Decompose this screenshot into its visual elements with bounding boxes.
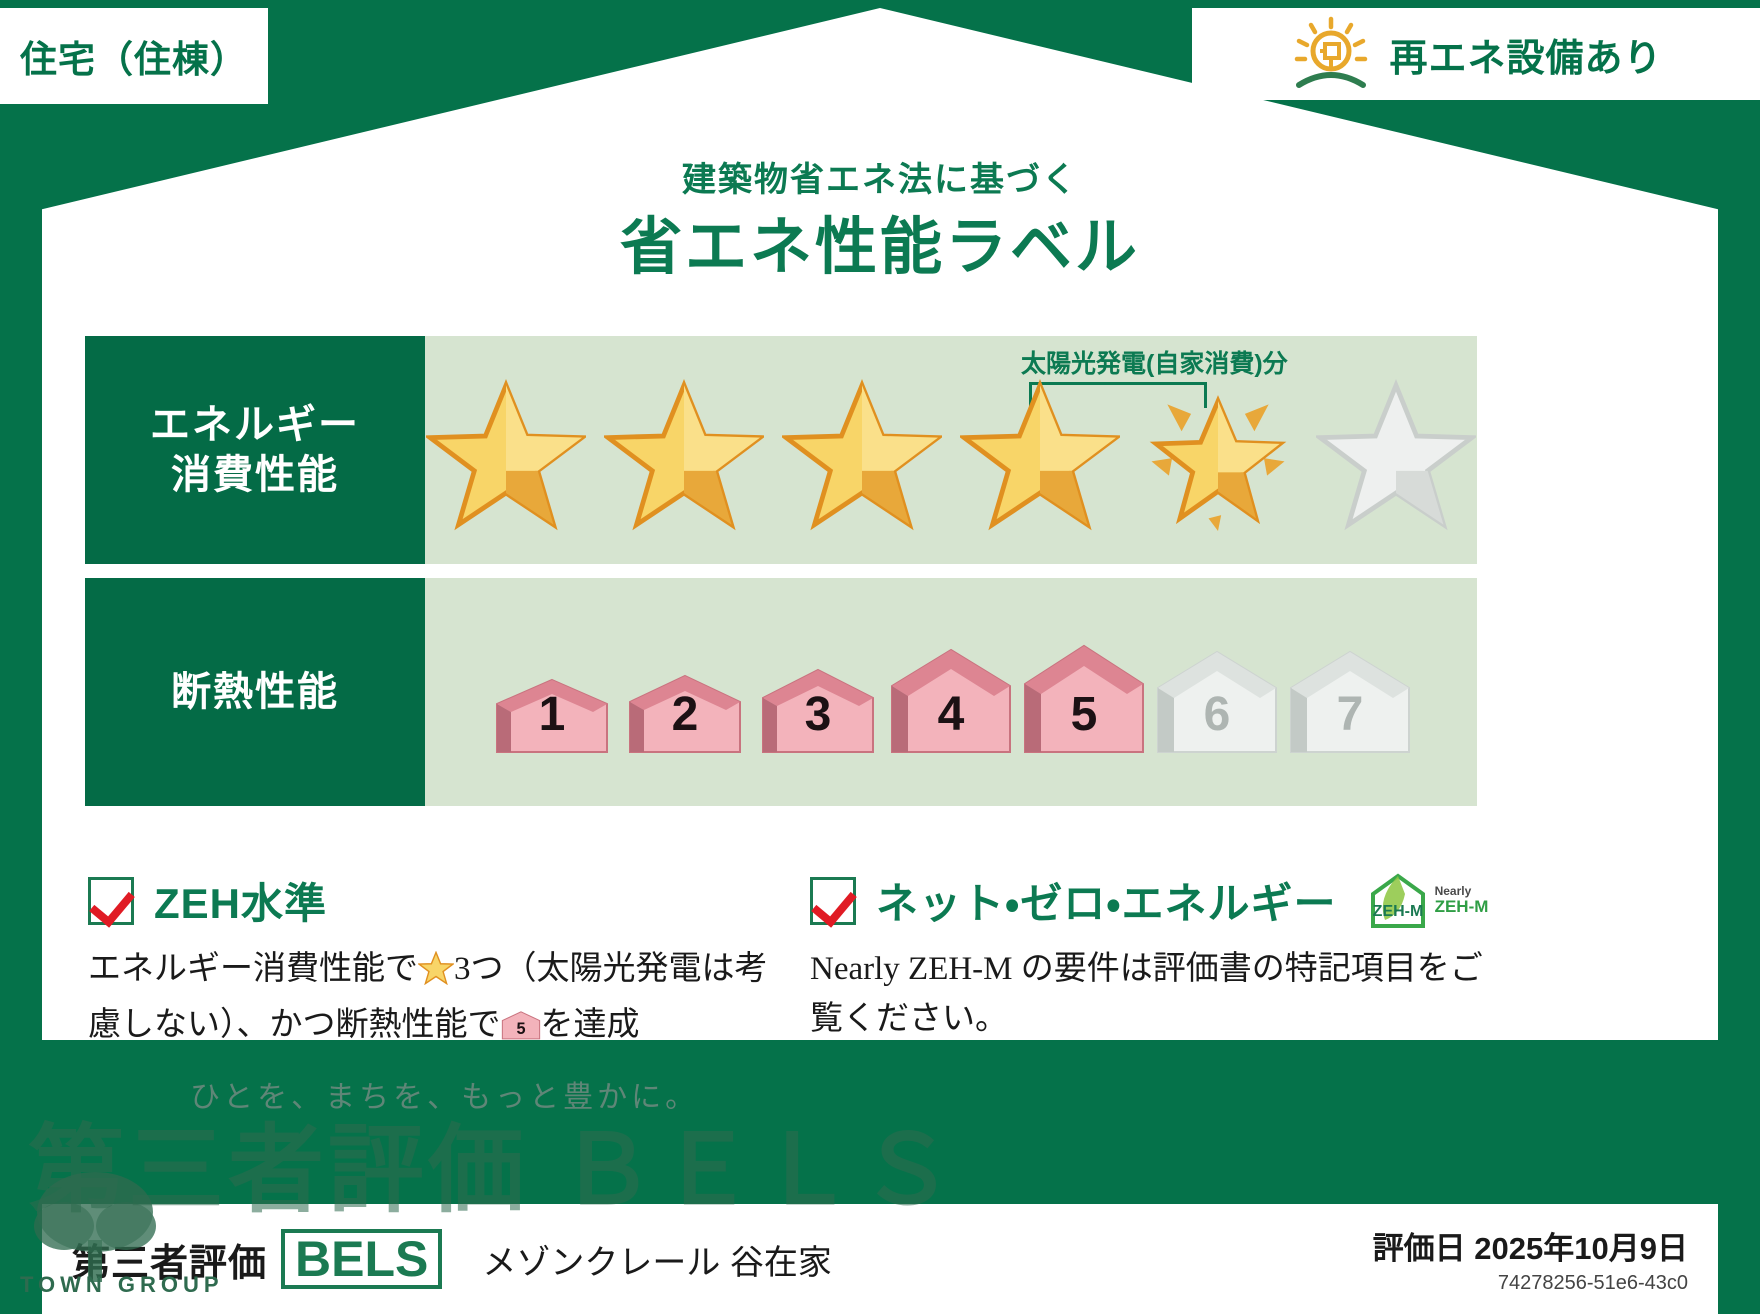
row-energy-label: エネルギー 消費性能 (85, 336, 425, 564)
footer-edge-right (1718, 1204, 1760, 1314)
star-icon-2 (604, 379, 764, 531)
insulation-step-number: 3 (759, 687, 877, 742)
footer-edge-left (0, 1204, 42, 1314)
insulation-step-3: 3 (755, 668, 882, 754)
watermark-tagline: ひとを、まちを、もっと豊かに。 (190, 1072, 699, 1116)
solar-annotation: 太陽光発電(自家消費)分 (1021, 344, 1288, 380)
row-insulation-steps: 1 2 (425, 578, 1477, 806)
label-subtitle: 建築物省エネ法に基づく (0, 152, 1760, 201)
solar-plug-icon (1289, 15, 1373, 94)
zeh-m-logo-text: Nearly ZEH-M (1435, 885, 1489, 917)
zeh-standard-title: ZEH水準 (154, 870, 327, 931)
svg-text:ZEH-M: ZEH-M (1372, 903, 1423, 920)
star-icon-3 (782, 379, 942, 531)
checkbox-checked-icon (88, 877, 134, 925)
inline-house-badge-icon: 5 (501, 1007, 541, 1059)
insulation-step-1: 1 (489, 678, 616, 754)
net-zero-energy-block: ネット・ゼロ・エネルギー ZEH-M Nearly ZEH-M Nearly Z… (810, 870, 1510, 1044)
badge-renewable-label: 再エネ設備あり (1389, 27, 1662, 82)
evaluation-date: 評価日 2025年10月9日 (1373, 1223, 1688, 1268)
insulation-step-4: 4 (888, 648, 1015, 754)
star-icon-4 (960, 379, 1120, 531)
footer-eval-info: 評価日 2025年10月9日 74278256-51e6-43c0 (1373, 1223, 1688, 1295)
zeh-m-logo: ZEH-M Nearly ZEH-M (1367, 872, 1489, 930)
third-party-eval-label: 第三者評価 (72, 1232, 267, 1287)
energy-performance-label: 住宅（住棟） 再エネ設備あり (0, 0, 1760, 1314)
svg-text:5: 5 (516, 1020, 525, 1038)
star-rating (426, 379, 1476, 531)
zeh-m-house-icon: ZEH-M (1367, 872, 1429, 930)
bels-logo: 第三者評価 BELS (72, 1229, 442, 1290)
insulation-step-7: 7 (1287, 650, 1414, 754)
insulation-step-list: 1 2 (489, 644, 1414, 754)
insulation-step-5: 5 (1021, 644, 1148, 754)
row-insulation-label: 断熱性能 (85, 578, 425, 806)
row-insulation-performance: 断熱性能 1 (85, 578, 1477, 806)
insulation-step-6: 6 (1154, 650, 1281, 754)
badge-renewable-equipment: 再エネ設備あり (1192, 8, 1760, 100)
bels-mark: BELS (281, 1229, 442, 1290)
insulation-step-2: 2 (622, 674, 749, 754)
insulation-step-number: 5 (1021, 687, 1147, 742)
evaluation-id: 74278256-51e6-43c0 (1373, 1272, 1688, 1295)
star-icon-5-solar (1138, 379, 1298, 531)
badge-house-type-label: 住宅（住棟） (20, 29, 248, 83)
net-zero-energy-description: Nearly ZEH-M の要件は評価書の特記項目をご覧ください。 (810, 945, 1510, 1044)
star-icon-1 (426, 379, 586, 531)
zeh-standard-description: エネルギー消費性能で3つ（太陽光発電は考慮しない）、かつ断熱性能で5を達成 (88, 945, 778, 1058)
property-name: メゾンクレール 谷在家 (482, 1235, 831, 1284)
insulation-step-number: 7 (1287, 687, 1413, 742)
insulation-step-number: 1 (493, 687, 611, 742)
insulation-step-number: 4 (888, 687, 1014, 742)
net-zero-energy-title: ネット・ゼロ・エネルギー (876, 870, 1337, 931)
label-title: 省エネ性能ラベル (0, 196, 1760, 286)
inline-star-icon (418, 951, 454, 1001)
badge-house-type: 住宅（住棟） (0, 8, 268, 104)
row-energy-stars: 太陽光発電(自家消費)分 (425, 336, 1477, 564)
star-icon-6-empty (1316, 379, 1476, 531)
checkbox-checked-icon (810, 877, 856, 925)
row-energy-performance: エネルギー 消費性能 太陽光発電(自家消費)分 (85, 336, 1477, 564)
zeh-standard-header: ZEH水準 (88, 870, 778, 931)
zeh-standard-block: ZEH水準 エネルギー消費性能で3つ（太陽光発電は考慮しない）、かつ断熱性能で5… (88, 870, 778, 1058)
net-zero-energy-header: ネット・ゼロ・エネルギー ZEH-M Nearly ZEH-M (810, 870, 1510, 931)
insulation-step-number: 6 (1154, 687, 1280, 742)
insulation-step-number: 2 (626, 687, 744, 742)
footer-bar: 第三者評価 BELS メゾンクレール 谷在家 評価日 2025年10月9日 74… (0, 1204, 1760, 1314)
